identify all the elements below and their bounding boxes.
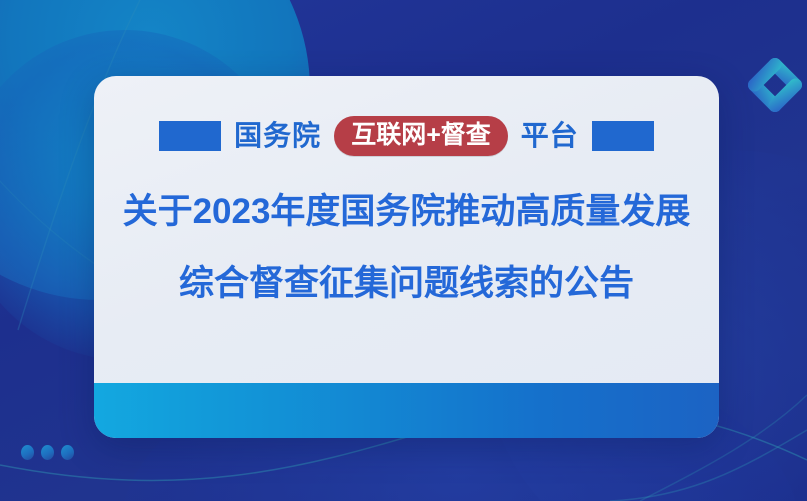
- dot-1: [21, 445, 34, 460]
- announcement-card: 国务院 互联网+督查 平台 关于2023年度国务院推动高质量发展 综合督查征集问…: [94, 76, 719, 438]
- brand-left-block: [159, 121, 221, 151]
- dot-3: [61, 445, 74, 460]
- card-footer-strip: [94, 383, 719, 438]
- dot-2: [41, 445, 54, 460]
- title-line-2: 综合督查征集问题线索的公告: [122, 266, 691, 301]
- page-title: 关于2023年度国务院推动高质量发展 综合督查征集问题线索的公告: [122, 194, 691, 301]
- announcement-poster: 国务院 互联网+督查 平台 关于2023年度国务院推动高质量发展 综合督查征集问…: [0, 0, 807, 501]
- title-line-1: 关于2023年度国务院推动高质量发展: [122, 194, 691, 229]
- platform-name: 平台: [521, 122, 579, 150]
- decorative-dots: [21, 445, 74, 460]
- diamond-logo: [745, 52, 805, 118]
- brand-right-block: [592, 121, 654, 151]
- brand-header: 国务院 互联网+督查 平台: [94, 116, 719, 156]
- organization-name: 国务院: [234, 122, 321, 150]
- internet-supervision-badge: 互联网+督查: [334, 116, 508, 156]
- card-body: 国务院 互联网+督查 平台 关于2023年度国务院推动高质量发展 综合督查征集问…: [94, 76, 719, 383]
